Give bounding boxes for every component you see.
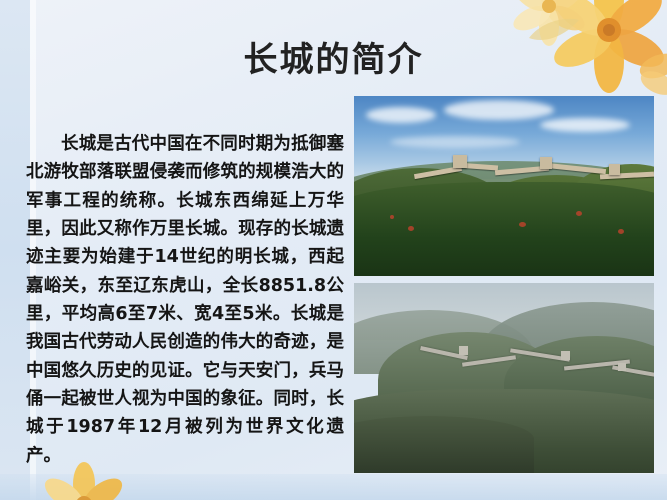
photo-cloud [366, 107, 436, 123]
bottom-accent-band [0, 474, 667, 500]
photo-watchtower [540, 157, 552, 169]
page-title: 长城的简介 [0, 32, 667, 81]
photo-cloud [390, 136, 520, 148]
photo-watchtower [618, 363, 626, 371]
photo-foreground-trees [354, 182, 654, 276]
photo-watchtower [453, 155, 467, 168]
great-wall-mountains-photo [354, 283, 654, 473]
slide-body-text: 长城是古代中国在不同时期为抵御塞北游牧部落联盟侵袭而修筑的规模浩大的军事工程的统… [26, 130, 344, 470]
photo-foreground-slope [354, 416, 534, 473]
photo-autumn-foliage [390, 215, 394, 219]
photo-cloud [540, 118, 630, 132]
presentation-slide: 长城的简介 长城是古代中国在不同时期为抵御塞北游牧部落联盟侵袭而修筑的规模浩大的… [0, 0, 667, 500]
photo-watchtower [609, 164, 620, 175]
photo-autumn-foliage [519, 222, 526, 227]
photo-watchtower [561, 351, 570, 360]
photo-watchtower [459, 346, 468, 355]
photo-autumn-foliage [408, 226, 414, 231]
great-wall-green-ridge-photo [354, 96, 654, 276]
photo-cloud [444, 100, 554, 120]
